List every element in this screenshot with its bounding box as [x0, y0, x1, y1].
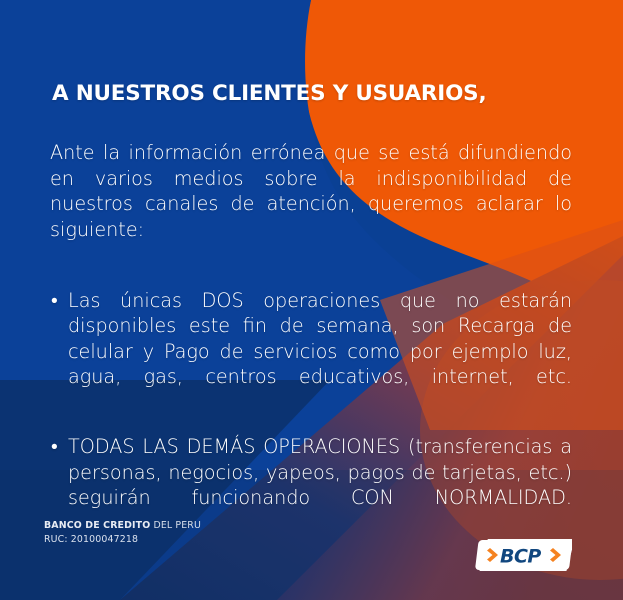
- bullet-list: • Las únicas DOS operaciones que no esta…: [50, 288, 572, 537]
- bcp-logo-graphic: BCP: [474, 537, 572, 573]
- company-name-light: DEL PERU: [150, 520, 201, 531]
- bullet-marker-icon: •: [51, 288, 58, 314]
- bullet-marker-icon: •: [51, 434, 58, 460]
- legal-footer: BANCO DE CREDITO DEL PERU RUC: 201000472…: [44, 519, 201, 546]
- bcp-announcement-poster: A NUESTROS CLIENTES Y USUARIOS, Ante la …: [0, 0, 623, 600]
- logo-wordmark: BCP: [500, 546, 541, 568]
- company-ruc: RUC: 20100047218: [44, 533, 201, 547]
- list-item-text: Las únicas DOS operaciones que no estará…: [68, 289, 572, 389]
- company-name-strong: BANCO DE CREDITO: [44, 520, 150, 531]
- list-item-text: TODAS LAS DEMÁS OPERACIONES (transferenc…: [68, 435, 572, 509]
- bcp-logo: BCP: [474, 537, 572, 573]
- poster-content: A NUESTROS CLIENTES Y USUARIOS, Ante la …: [0, 0, 623, 600]
- body-copy: Ante la información errónea que se está …: [50, 140, 572, 555]
- intro-paragraph: Ante la información errónea que se está …: [50, 140, 572, 268]
- list-item: • Las únicas DOS operaciones que no esta…: [50, 288, 572, 416]
- page-title: A NUESTROS CLIENTES Y USUARIOS,: [52, 82, 572, 106]
